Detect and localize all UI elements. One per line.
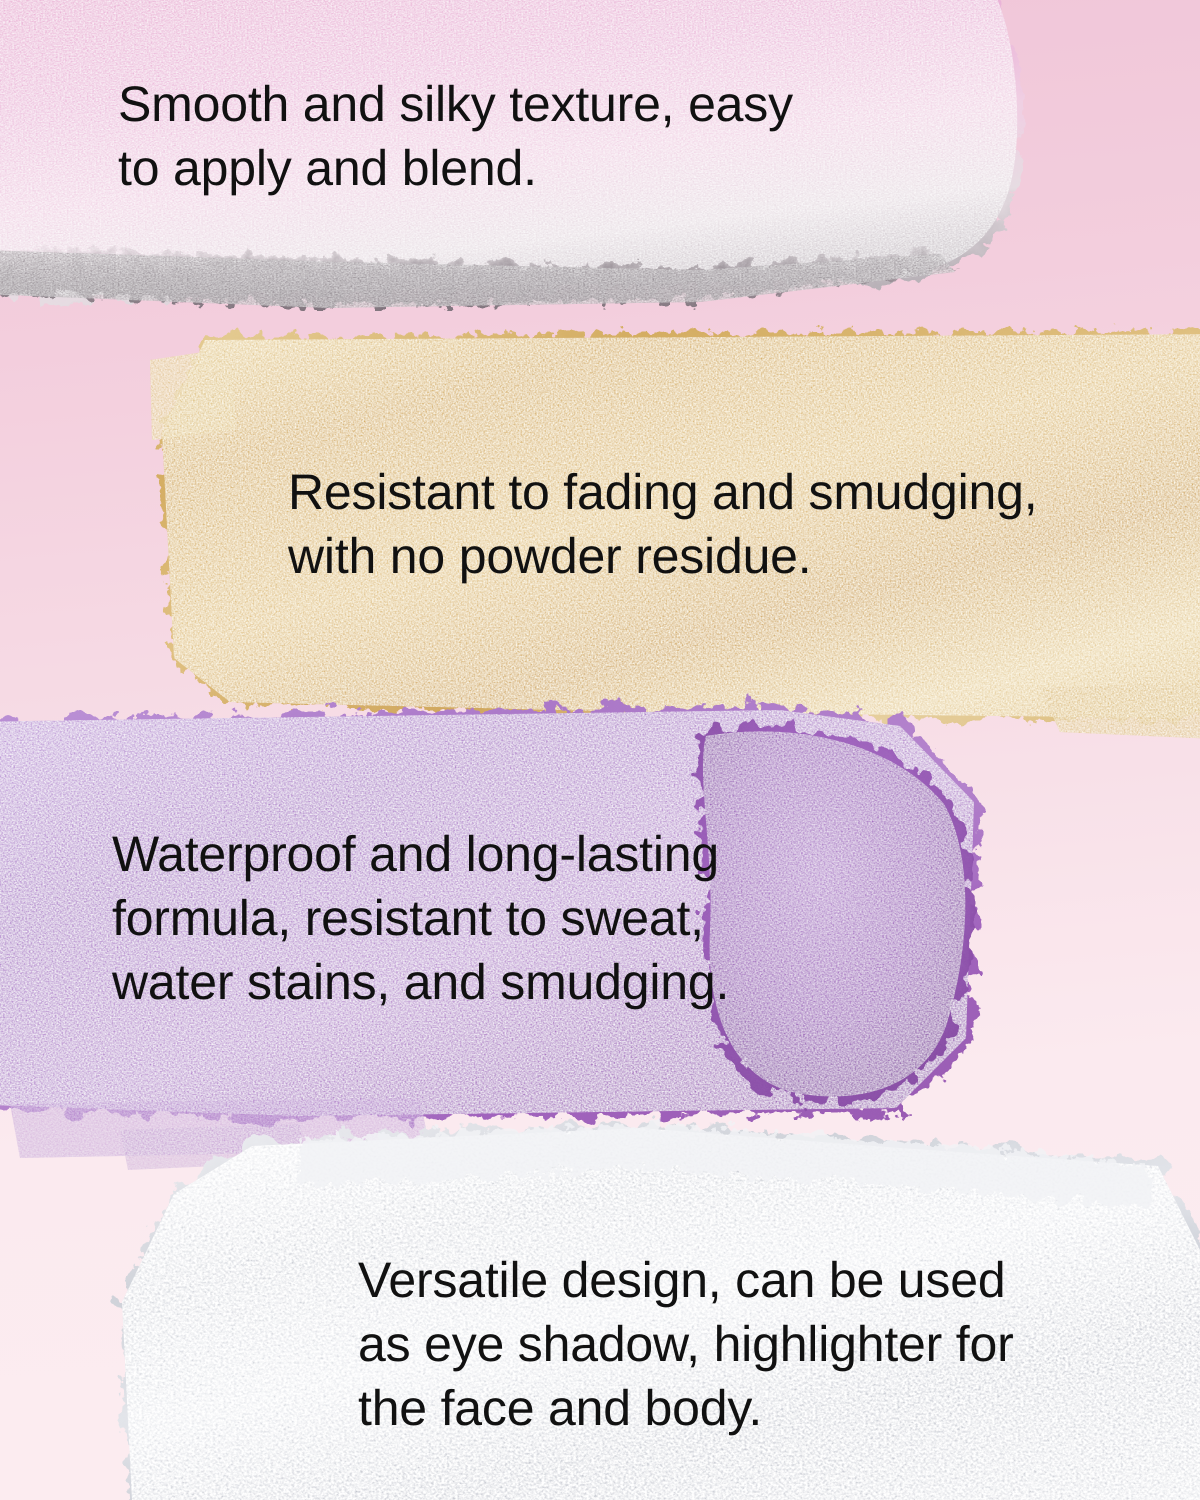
feature-caption-gold: Resistant to fading and smudging, with n… — [288, 460, 1037, 588]
feature-caption-purple: Waterproof and long-lasting formula, res… — [112, 822, 729, 1014]
feature-caption-pink: Smooth and silky texture, easy to apply … — [118, 72, 793, 200]
infographic-canvas: Smooth and silky texture, easy to apply … — [0, 0, 1200, 1500]
feature-caption-silver: Versatile design, can be used as eye sha… — [358, 1248, 1014, 1440]
